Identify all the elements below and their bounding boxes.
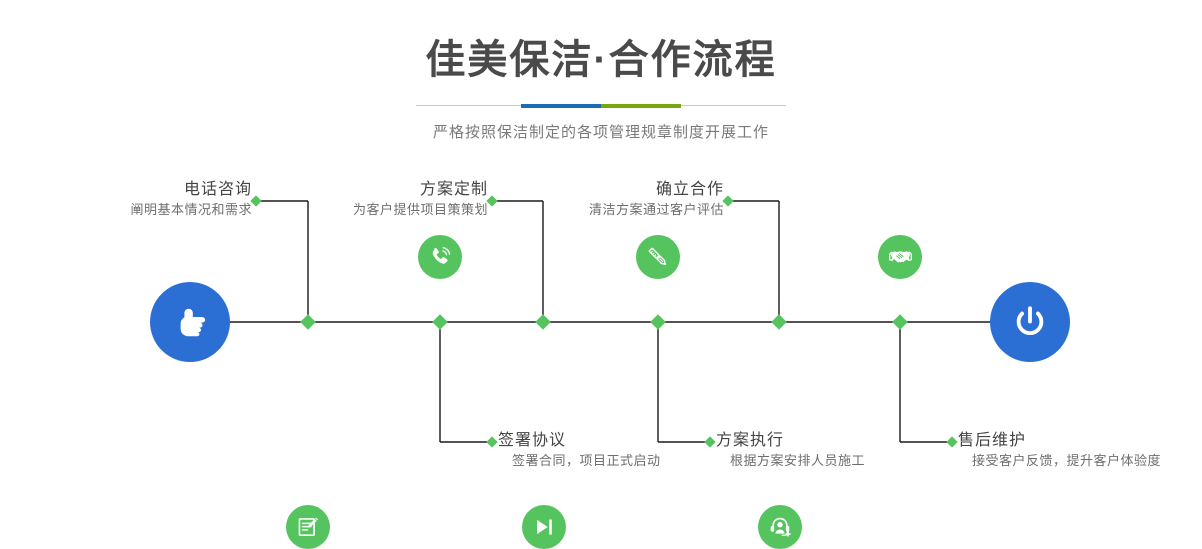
power-icon — [1008, 300, 1052, 344]
node-marker-step-sign-agreement — [432, 314, 448, 330]
label-step-establish-cooperation: 确立合作 清洁方案通过客户评估 — [532, 180, 724, 219]
node-marker-step-after-sales — [892, 314, 908, 330]
label-title: 方案执行 — [716, 431, 956, 451]
label-marker-step-establish-cooperation — [722, 195, 733, 206]
label-desc: 签署合同，项目正式启动 — [498, 451, 738, 470]
label-desc: 为客户提供项目策策划 — [296, 200, 488, 219]
label-desc: 阐明基本情况和需求 — [60, 200, 252, 219]
infographic-canvas: 佳美保洁·合作流程 严格按照保洁制定的各项管理规章制度开展工作 — [0, 0, 1202, 502]
label-marker-step-sign-agreement — [486, 436, 497, 447]
step-icon-step-plan-execute[interactable] — [522, 505, 566, 549]
page-title: 佳美保洁·合作流程 — [0, 40, 1202, 80]
label-step-after-sales: 售后维护 接受客户反馈，提升客户体验度 — [958, 431, 1202, 470]
step-icon-step-establish-cooperation[interactable] — [878, 235, 922, 279]
label-marker-step-phone-consult — [250, 195, 261, 206]
node-marker-step-establish-cooperation — [771, 314, 787, 330]
handshake-icon — [887, 244, 914, 271]
step-icon-step-plan-custom[interactable] — [636, 235, 680, 279]
phone-icon — [427, 244, 453, 270]
label-title: 方案定制 — [296, 180, 488, 200]
process-flow-diagram: 电话咨询 阐明基本情况和需求 方案定制 为客户提供项目策策划 确立合作 清洁方案… — [0, 150, 1202, 502]
label-step-plan-execute: 方案执行 根据方案安排人员施工 — [716, 431, 956, 470]
label-step-sign-agreement: 签署协议 签署合同，项目正式启动 — [498, 431, 738, 470]
label-title: 签署协议 — [498, 431, 738, 451]
label-desc: 清洁方案通过客户评估 — [532, 200, 724, 219]
title-divider — [416, 100, 786, 112]
divider-green-segment — [601, 104, 681, 108]
label-title: 确立合作 — [532, 180, 724, 200]
node-marker-step-plan-execute — [650, 314, 666, 330]
step-icon-step-sign-agreement[interactable] — [286, 505, 330, 549]
node-marker-step-phone-consult — [300, 314, 316, 330]
label-desc: 根据方案安排人员施工 — [716, 451, 956, 470]
document-edit-icon — [295, 514, 321, 540]
page-subtitle: 严格按照保洁制定的各项管理规章制度开展工作 — [0, 121, 1202, 142]
header: 佳美保洁·合作流程 严格按照保洁制定的各项管理规章制度开展工作 — [0, 0, 1202, 142]
label-step-plan-custom: 方案定制 为客户提供项目策策划 — [296, 180, 488, 219]
end-node[interactable] — [990, 282, 1070, 362]
play-next-icon — [531, 514, 557, 540]
node-marker-step-plan-custom — [535, 314, 551, 330]
label-title: 电话咨询 — [60, 180, 252, 200]
pencil-ruler-icon — [645, 244, 671, 270]
divider-blue-segment — [521, 104, 601, 108]
headset-support-icon — [767, 514, 793, 540]
step-icon-step-after-sales[interactable] — [758, 505, 802, 549]
label-desc: 接受客户反馈，提升客户体验度 — [958, 451, 1202, 470]
pointing-hand-icon — [168, 300, 212, 344]
label-step-phone-consult: 电话咨询 阐明基本情况和需求 — [60, 180, 252, 219]
label-marker-step-plan-custom — [486, 195, 497, 206]
label-title: 售后维护 — [958, 431, 1202, 451]
start-node[interactable] — [150, 282, 230, 362]
step-icon-step-phone-consult[interactable] — [418, 235, 462, 279]
